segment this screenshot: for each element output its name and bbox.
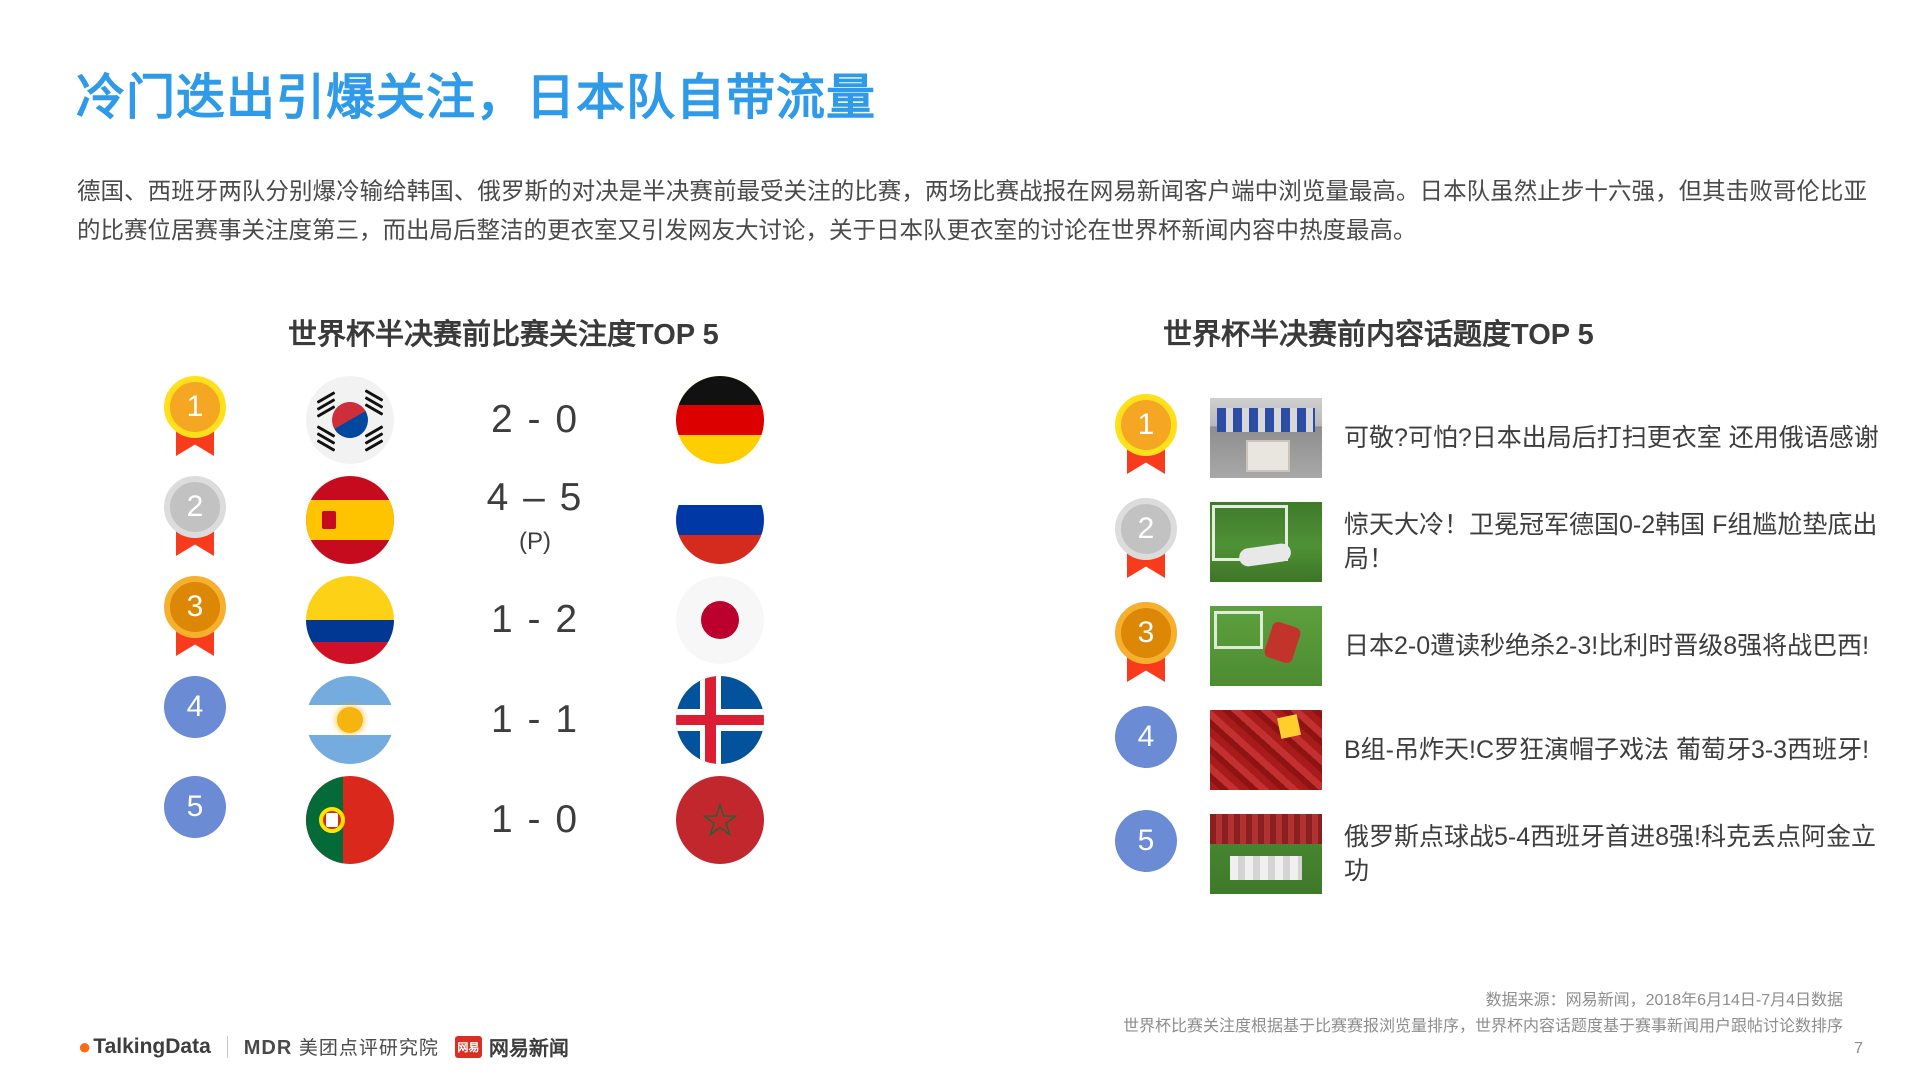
flag-japan-icon <box>676 576 764 664</box>
news-thumbnail-locker-room <box>1210 398 1322 478</box>
match-row: 4 1 - 1 <box>130 670 890 770</box>
news-row[interactable]: 2 惊天大冷！卫冕冠军德国0-2韩国 F组尴尬垫底出局！ <box>1108 490 1908 594</box>
match-row: 1 <box>130 370 890 470</box>
rank-medal-2: 2 <box>1115 498 1177 586</box>
rank-number: 3 <box>1115 602 1177 664</box>
flag-argentina-icon <box>306 676 394 764</box>
rank-medal-4: 4 <box>164 676 226 764</box>
news-headline[interactable]: 俄罗斯点球战5-4西班牙首进8强!科克丢点阿金立功 <box>1344 820 1884 888</box>
home-flag-cell <box>260 476 440 564</box>
match-ranking-list: 1 <box>130 370 890 870</box>
news-row[interactable]: 5 俄罗斯点球战5-4西班牙首进8强!科克丢点阿金立功 <box>1108 802 1908 906</box>
rank-cell: 3 <box>1108 602 1184 690</box>
section-title-news: 世界杯半决赛前内容话题度TOP 5 <box>1163 311 1594 353</box>
rank-cell: 5 <box>130 776 260 864</box>
match-score: 1 - 0 <box>440 798 630 842</box>
brand-netease: 网易 网易新闻 <box>455 1032 569 1061</box>
rank-medal-3: 3 <box>164 576 226 664</box>
page-number: 7 <box>1854 1040 1863 1058</box>
news-ranking-list: 1 可敬?可怕?日本出局后打扫更衣室 还用俄语感谢 2 惊天大冷！卫冕冠军德国0… <box>1108 386 1908 906</box>
news-thumbnail-red-crowd <box>1210 710 1322 790</box>
rank-number: 2 <box>1115 498 1177 560</box>
news-headline[interactable]: 日本2-0遭读秒绝杀2-3!比利时晋级8强将战巴西! <box>1344 629 1869 663</box>
flag-colombia-icon <box>306 576 394 664</box>
rank-cell: 4 <box>1108 706 1184 794</box>
flag-morocco-icon: ☆ <box>676 776 764 864</box>
brand-divider <box>227 1036 228 1058</box>
score-value: 1 - 1 <box>491 698 579 741</box>
home-flag-cell <box>260 776 440 864</box>
away-flag-cell: ☆ <box>630 776 810 864</box>
flag-south-korea-icon <box>306 376 394 464</box>
flag-spain-icon <box>306 476 394 564</box>
rank-cell: 1 <box>130 376 260 464</box>
news-thumbnail-pitch-celebration <box>1210 814 1322 894</box>
away-flag-cell <box>630 676 810 764</box>
away-flag-cell <box>630 576 810 664</box>
score-value: 4 – 5 <box>487 476 584 519</box>
brand-talkingdata-label: TalkingData <box>93 1035 210 1059</box>
rank-medal-1: 1 <box>164 376 226 464</box>
match-score: 1 - 1 <box>440 698 630 742</box>
slide-root: 冷门迭出引爆关注，日本队自带流量 德国、西班牙两队分别爆冷输给韩国、俄罗斯的对决… <box>0 0 1921 1080</box>
rank-number: 3 <box>164 576 226 638</box>
brand-mdr-cn: 美团点评研究院 <box>299 1038 439 1059</box>
section-title-matches: 世界杯半决赛前比赛关注度TOP 5 <box>288 311 719 353</box>
rank-medal-5: 5 <box>164 776 226 864</box>
news-thumbnail-goal-save <box>1210 502 1322 582</box>
rank-medal-2: 2 <box>164 476 226 564</box>
score-value: 2 - 0 <box>491 398 579 441</box>
talkingdata-dot-icon: ● <box>78 1034 91 1060</box>
score-value: 1 - 0 <box>491 798 579 841</box>
rank-cell: 3 <box>130 576 260 664</box>
rank-number: 5 <box>164 776 226 838</box>
news-headline[interactable]: 可敬?可怕?日本出局后打扫更衣室 还用俄语感谢 <box>1344 421 1879 455</box>
match-row: 3 1 - 2 <box>130 570 890 670</box>
away-flag-cell <box>630 376 810 464</box>
news-row[interactable]: 3 日本2-0遭读秒绝杀2-3!比利时晋级8强将战巴西! <box>1108 594 1908 698</box>
rank-number: 4 <box>1115 706 1177 768</box>
news-row[interactable]: 1 可敬?可怕?日本出局后打扫更衣室 还用俄语感谢 <box>1108 386 1908 490</box>
footnote: 数据来源：网易新闻，2018年6月14日-7月4日数据 世界杯比赛关注度根据基于… <box>1123 988 1843 1040</box>
home-flag-cell <box>260 376 440 464</box>
home-flag-cell <box>260 576 440 664</box>
flag-portugal-icon <box>306 776 394 864</box>
away-flag-cell <box>630 476 810 564</box>
flag-russia-icon <box>676 476 764 564</box>
rank-medal-1: 1 <box>1115 394 1177 482</box>
news-thumbnail-players-ground <box>1210 606 1322 686</box>
news-headline[interactable]: B组-吊炸天!C罗狂演帽子戏法 葡萄牙3-3西班牙! <box>1344 733 1869 767</box>
rank-number: 5 <box>1115 810 1177 872</box>
flag-germany-icon <box>676 376 764 464</box>
rank-number: 1 <box>1115 394 1177 456</box>
match-score: 2 - 0 <box>440 398 630 442</box>
brand-netease-label: 网易新闻 <box>489 1032 569 1061</box>
rank-cell: 2 <box>130 476 260 564</box>
footnote-source: 数据来源：网易新闻，2018年6月14日-7月4日数据 <box>1123 988 1843 1014</box>
rank-medal-4: 4 <box>1115 706 1177 794</box>
match-row: 2 4 – 5 (P) <box>130 470 890 570</box>
news-headline[interactable]: 惊天大冷！卫冕冠军德国0-2韩国 F组尴尬垫底出局！ <box>1344 508 1884 576</box>
match-score: 1 - 2 <box>440 598 630 642</box>
match-score: 4 – 5 (P) <box>440 476 630 564</box>
rank-cell: 5 <box>1108 810 1184 898</box>
intro-paragraph: 德国、西班牙两队分别爆冷输给韩国、俄罗斯的对决是半决赛前最受关注的比赛，两场比赛… <box>77 172 1867 250</box>
footnote-method: 世界杯比赛关注度根据基于比赛赛报浏览量排序，世界杯内容话题度基于赛事新闻用户跟帖… <box>1123 1014 1843 1040</box>
penalty-note: (P) <box>440 520 630 564</box>
brand-talkingdata: ● TalkingData <box>78 1034 211 1060</box>
rank-cell: 4 <box>130 676 260 764</box>
page-title: 冷门迭出引爆关注，日本队自带流量 <box>76 58 876 129</box>
news-row[interactable]: 4 B组-吊炸天!C罗狂演帽子戏法 葡萄牙3-3西班牙! <box>1108 698 1908 802</box>
rank-medal-5: 5 <box>1115 810 1177 898</box>
rank-number: 1 <box>164 376 226 438</box>
rank-cell: 1 <box>1108 394 1184 482</box>
brand-mdr: MDR 美团点评研究院 <box>244 1033 439 1060</box>
rank-number: 4 <box>164 676 226 738</box>
rank-cell: 2 <box>1108 498 1184 586</box>
brand-mdr-en: MDR <box>244 1037 293 1059</box>
netease-logo-icon: 网易 <box>455 1036 482 1058</box>
score-value: 1 - 2 <box>491 598 579 641</box>
flag-iceland-icon <box>676 676 764 764</box>
rank-number: 2 <box>164 476 226 538</box>
home-flag-cell <box>260 676 440 764</box>
match-row: 5 1 - 0 ☆ <box>130 770 890 870</box>
brand-bar: ● TalkingData MDR 美团点评研究院 网易 网易新闻 <box>78 1032 569 1061</box>
rank-medal-3: 3 <box>1115 602 1177 690</box>
